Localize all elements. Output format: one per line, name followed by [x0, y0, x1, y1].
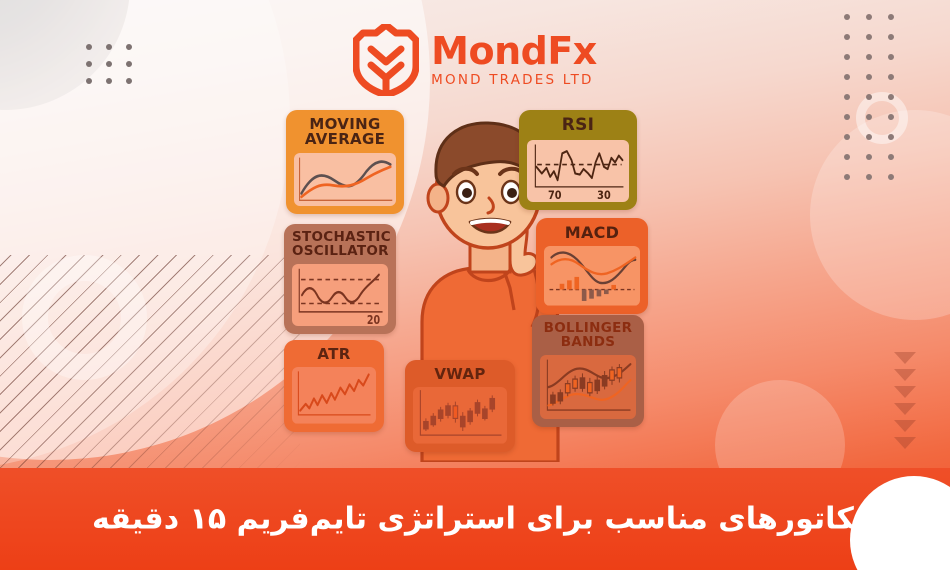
- decorative-ring-left: [22, 255, 147, 380]
- indicator-card-moving-average[interactable]: MOVINGAVERAGE: [286, 110, 404, 214]
- card-title: ATR: [292, 347, 376, 362]
- card-title: VWAP: [413, 367, 507, 382]
- card-title: BOLLINGERBANDS: [540, 322, 636, 350]
- decorative-chevron-down-icon-stack: [894, 352, 916, 449]
- card-chart-moving-average: [294, 153, 396, 206]
- decorative-ring-right-top: [856, 92, 908, 144]
- promo-banner-image: MondFx MOND TRADES LTD: [0, 0, 950, 570]
- card-chart-stochastic: 20: [292, 264, 388, 326]
- indicator-card-vwap[interactable]: VWAP: [405, 360, 515, 452]
- brand-name: MondFx: [431, 32, 597, 70]
- title-banner: اندیکاتورهای مناسب برای استراتژی تایم‌فر…: [0, 468, 950, 570]
- decorative-circle-right: [810, 110, 950, 320]
- card-title: STOCHASTICOSCILLATOR: [292, 231, 388, 259]
- card-chart-macd: [544, 246, 640, 306]
- card-title: RSI: [527, 117, 629, 135]
- indicator-card-atr[interactable]: ATR: [284, 340, 384, 432]
- indicator-card-macd[interactable]: MACD: [536, 218, 648, 314]
- svg-text:30: 30: [597, 188, 611, 202]
- svg-text:70: 70: [548, 188, 562, 202]
- card-chart-vwap: [413, 387, 507, 444]
- card-chart-atr: [292, 367, 376, 424]
- card-chart-rsi: 70 30: [527, 140, 629, 203]
- card-title: MOVINGAVERAGE: [294, 117, 396, 148]
- brand-logo: MondFx MOND TRADES LTD: [0, 24, 950, 96]
- svg-text:20: 20: [367, 312, 380, 326]
- card-chart-bollinger: [540, 355, 636, 419]
- brand-tagline: MOND TRADES LTD: [431, 74, 597, 88]
- indicator-card-bollinger-bands[interactable]: BOLLINGERBANDS: [532, 315, 644, 427]
- shield-check-icon: [353, 24, 419, 96]
- card-title: MACD: [544, 225, 640, 241]
- indicator-card-rsi[interactable]: RSI 70 30: [519, 110, 637, 210]
- page-title: اندیکاتورهای مناسب برای استراتژی تایم‌فر…: [60, 502, 904, 537]
- indicator-card-stochastic-oscillator[interactable]: STOCHASTICOSCILLATOR 20: [284, 224, 396, 334]
- brand-text: MondFx MOND TRADES LTD: [431, 32, 597, 88]
